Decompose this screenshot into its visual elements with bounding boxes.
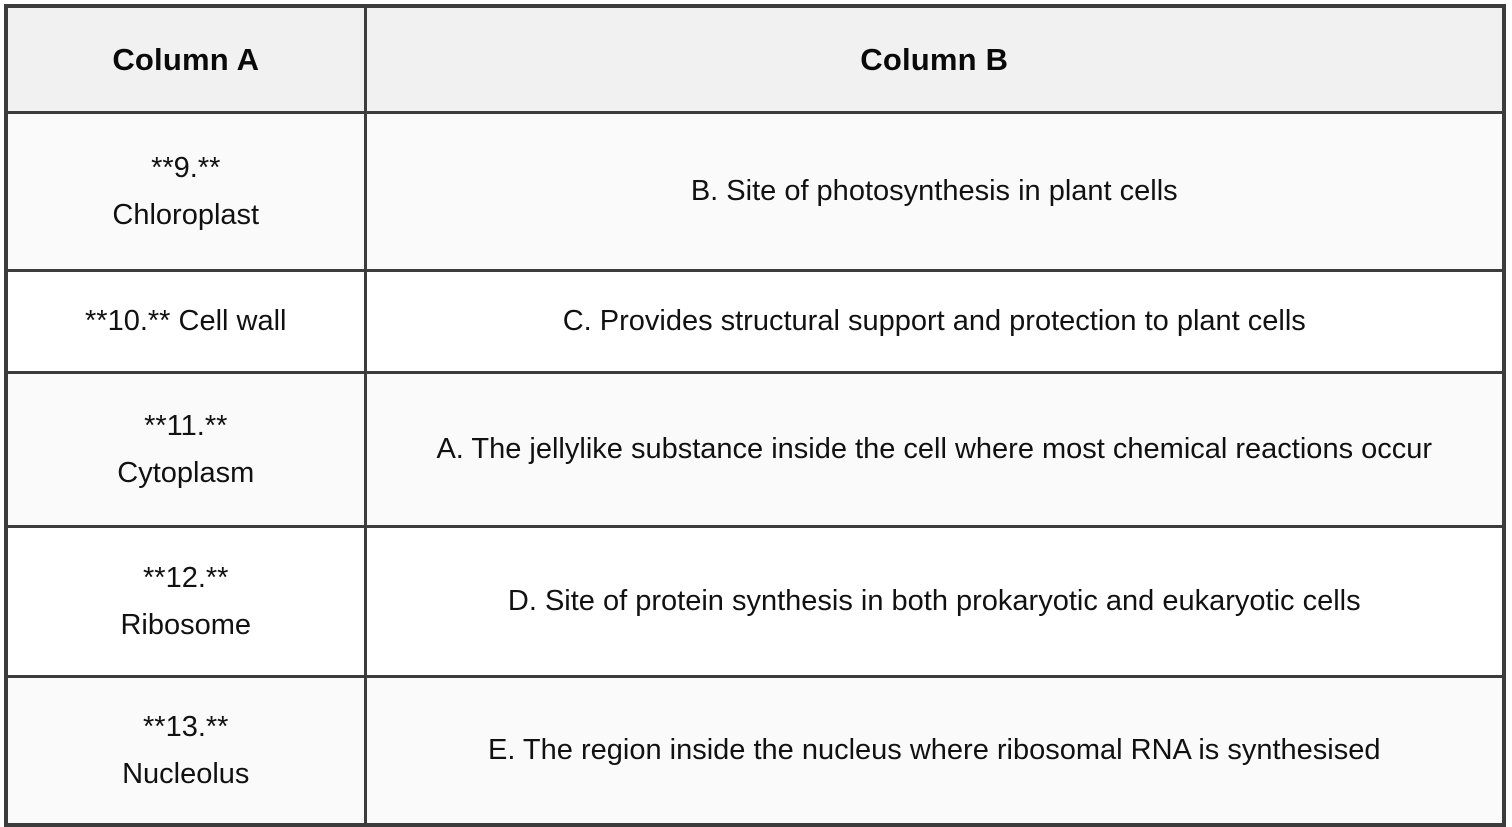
term-name: Ribosome [14,602,358,649]
definition-cell: D. Site of protein synthesis in both pro… [365,527,1504,677]
term-name: Chloroplast [14,192,358,239]
table-row: **9.** Chloroplast B. Site of photosynth… [6,113,1504,271]
term-cell: **9.** Chloroplast [6,113,365,271]
term-cell: **11.** Cytoplasm [6,373,365,527]
term-number: **13.** [14,704,358,751]
definition-cell: A. The jellylike substance inside the ce… [365,373,1504,527]
definition-cell: C. Provides structural support and prote… [365,271,1504,373]
term-cell: **10.** Cell wall [6,271,365,373]
term-cell: **12.** Ribosome [6,527,365,677]
term-cell: **13.** Nucleolus [6,677,365,826]
term-number: **9.** [14,145,358,192]
table-row: **11.** Cytoplasm A. The jellylike subst… [6,373,1504,527]
term-name: Nucleolus [14,751,358,798]
matching-table: Column A Column B **9.** Chloroplast B. … [4,4,1506,827]
term-number: **11.** [14,403,358,450]
table-header-row: Column A Column B [6,6,1504,113]
term-number: **12.** [14,555,358,602]
definition-cell: E. The region inside the nucleus where r… [365,677,1504,826]
column-header-a: Column A [6,6,365,113]
column-header-b: Column B [365,6,1504,113]
definition-cell: B. Site of photosynthesis in plant cells [365,113,1504,271]
document-canvas: Column A Column B **9.** Chloroplast B. … [0,0,1512,741]
table-row: **13.** Nucleolus E. The region inside t… [6,677,1504,826]
table-header: Column A Column B [6,6,1504,113]
table-row: **10.** Cell wall C. Provides structural… [6,271,1504,373]
term-name: Cytoplasm [14,450,358,497]
table-body: **9.** Chloroplast B. Site of photosynth… [6,113,1504,826]
table-row: **12.** Ribosome D. Site of protein synt… [6,527,1504,677]
